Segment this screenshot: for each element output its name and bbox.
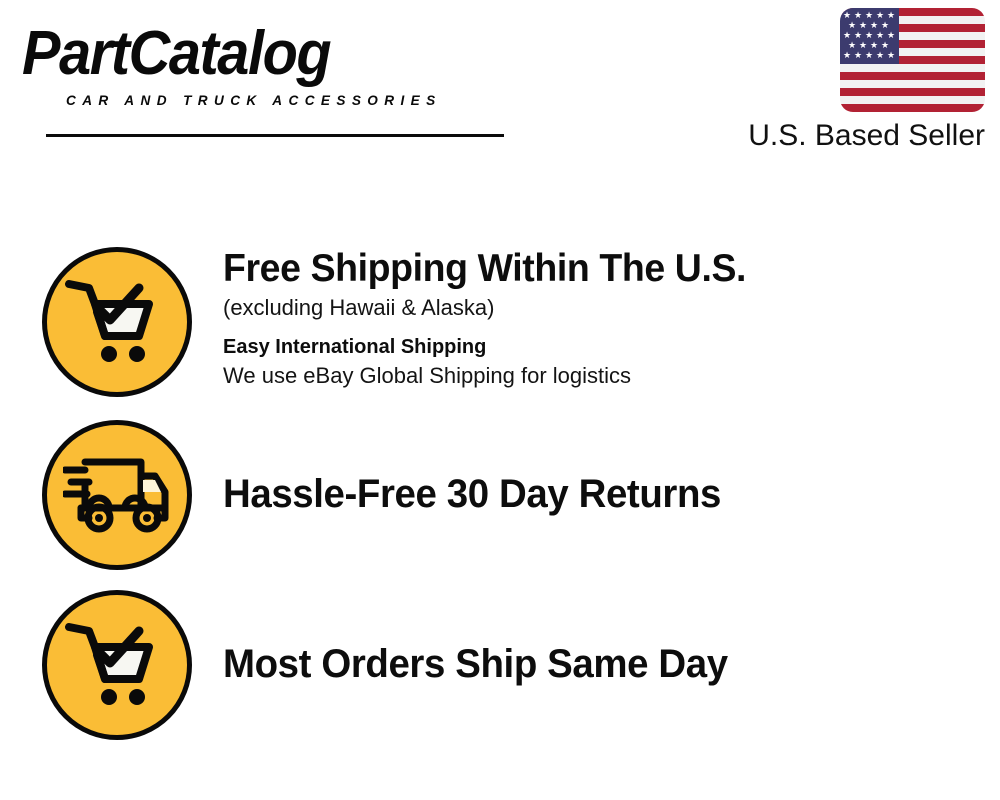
feature-text-block: Hassle-Free 30 Day Returns: [223, 470, 983, 518]
brand-tagline: CAR AND TRUCK ACCESSORIES: [66, 92, 442, 108]
brand-wordmark: PartCatalog: [22, 22, 459, 86]
flag-stripe: [840, 64, 985, 72]
shopping-cart-check-icon: [42, 590, 192, 740]
feature-row: Most Orders Ship Same Day: [0, 590, 1000, 762]
flag-stripe: [840, 104, 985, 112]
flag-stripe: [840, 72, 985, 80]
feature-title: Free Shipping Within The U.S.: [223, 247, 953, 291]
feature-list: Free Shipping Within The U.S. (excluding…: [0, 170, 1000, 800]
shopping-cart-check-icon: [42, 247, 192, 397]
brand-underline-icon: [46, 134, 504, 137]
us-based-seller-badge: ★ ★ ★ ★ ★ ★ ★ ★ ★ ★ ★ ★ ★ ★ ★ ★ ★: [710, 8, 985, 153]
us-flag-icon: ★ ★ ★ ★ ★ ★ ★ ★ ★ ★ ★ ★ ★ ★ ★ ★ ★: [840, 8, 985, 112]
flag-stripe: [840, 80, 985, 88]
feature-subtitle: (excluding Hawaii & Alaska): [223, 293, 983, 323]
shipping-info-banner: PartCatalog CAR AND TRUCK ACCESSORIES: [0, 0, 1000, 800]
feature-row: Free Shipping Within The U.S. (excluding…: [0, 247, 1000, 417]
feature-text-block: Free Shipping Within The U.S. (excluding…: [223, 247, 983, 391]
feature-title: Hassle-Free 30 Day Returns: [223, 470, 953, 518]
partcatalog-logo: PartCatalog CAR AND TRUCK ACCESSORIES: [22, 22, 492, 114]
us-based-seller-label: U.S. Based Seller: [710, 119, 985, 153]
flag-canton: ★ ★ ★ ★ ★ ★ ★ ★ ★ ★ ★ ★ ★ ★ ★ ★ ★: [840, 8, 899, 64]
flag-stripe: [840, 88, 985, 96]
feature-secondary-title: Easy International Shipping: [223, 333, 983, 361]
flag-stripe: [840, 96, 985, 104]
feature-row: Hassle-Free 30 Day Returns: [0, 420, 1000, 590]
delivery-truck-icon: [42, 420, 192, 570]
feature-text-block: Most Orders Ship Same Day: [223, 640, 983, 688]
banner-header: PartCatalog CAR AND TRUCK ACCESSORIES: [0, 0, 1000, 170]
feature-secondary-note: We use eBay Global Shipping for logistic…: [223, 361, 983, 391]
feature-title: Most Orders Ship Same Day: [223, 640, 953, 688]
